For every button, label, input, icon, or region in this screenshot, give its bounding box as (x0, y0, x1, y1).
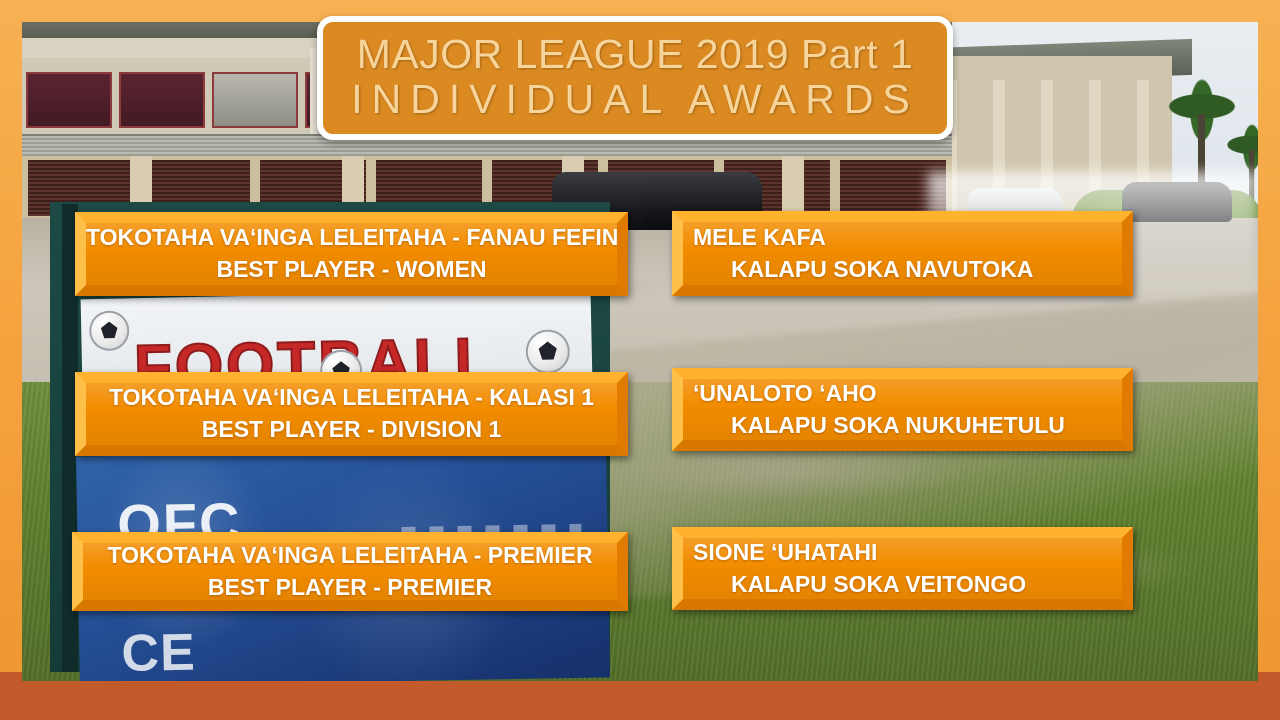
slide-title-line1: MAJOR LEAGUE 2019 Part 1 (357, 33, 914, 76)
award-winner-2-club: KALAPU SOKA NUKUHETULU (683, 410, 1122, 442)
award-category-plaque-3: TOKOTAHA VA‘INGA LELEITAHA - PREMIER BES… (72, 532, 628, 611)
award-category-3-tongan: TOKOTAHA VA‘INGA LELEITAHA - PREMIER (83, 540, 617, 572)
slide-title-banner: MAJOR LEAGUE 2019 Part 1 INDIVIDUAL AWAR… (317, 16, 953, 140)
award-winner-plaque-1: MELE KAFA KALAPU SOKA NAVUTOKA (672, 211, 1133, 296)
award-category-3-english: BEST PLAYER - PREMIER (83, 572, 617, 604)
photo-ofc-banner-line3: CE (121, 623, 196, 681)
award-winner-3-name: SIONE ‘UHATAHI (683, 537, 1122, 569)
award-winner-2-name: ‘UNALOTO ‘AHO (683, 378, 1122, 410)
award-winner-3-club: KALAPU SOKA VEITONGO (683, 569, 1122, 601)
award-winner-1-club: KALAPU SOKA NAVUTOKA (683, 254, 1122, 286)
award-category-1-english: BEST PLAYER - WOMEN (86, 254, 617, 286)
presentation-slide: FOOTBALL OFC CATION CE MAJOR LEAGUE 2019… (0, 0, 1280, 720)
award-winner-plaque-2: ‘UNALOTO ‘AHO KALAPU SOKA NUKUHETULU (672, 368, 1133, 451)
award-category-1-tongan: TOKOTAHA VA‘INGA LELEITAHA - FANAU FEFIN… (86, 222, 617, 254)
award-category-plaque-2: TOKOTAHA VA‘INGA LELEITAHA - KALASI 1 BE… (75, 372, 628, 456)
award-category-plaque-1: TOKOTAHA VA‘INGA LELEITAHA - FANAU FEFIN… (75, 212, 628, 296)
award-category-2-tongan: TOKOTAHA VA‘INGA LELEITAHA - KALASI 1 (86, 382, 617, 414)
award-winner-plaque-3: SIONE ‘UHATAHI KALAPU SOKA VEITONGO (672, 527, 1133, 610)
award-category-2-english: BEST PLAYER - DIVISION 1 (86, 414, 617, 446)
award-winner-1-name: MELE KAFA (683, 222, 1122, 254)
slide-title-line2: INDIVIDUAL AWARDS (351, 76, 919, 123)
